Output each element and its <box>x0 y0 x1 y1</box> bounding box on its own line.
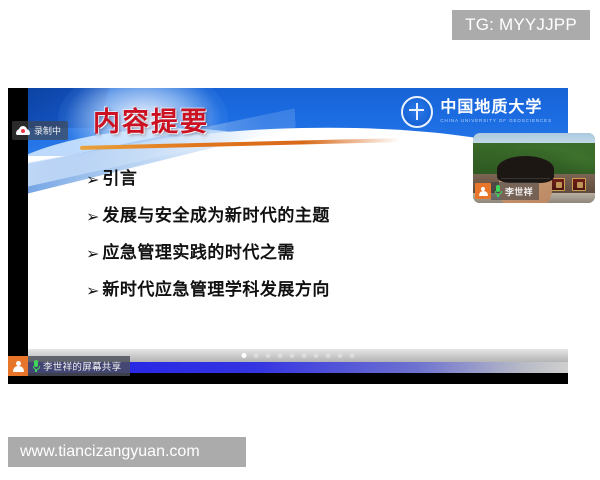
page-dot[interactable] <box>302 353 307 358</box>
page-dot[interactable] <box>242 353 247 358</box>
recording-badge: 录制中 <box>12 121 68 140</box>
page-dot[interactable] <box>314 353 319 358</box>
page-dot[interactable] <box>254 353 259 358</box>
arrow-bullet-icon: ➢ <box>86 173 99 189</box>
list-item: ➢ 应急管理实践的时代之需 <box>86 244 550 263</box>
person-avatar-icon <box>8 356 28 376</box>
university-name-block: 中国地质大学 CHINA UNIVERSITY OF GEOSCIENCES <box>440 100 552 124</box>
cloud-record-icon <box>16 126 30 135</box>
presentation-slide: 内容提要 中国地质大学 CHINA UNIVERSITY OF GEOSCIEN… <box>28 88 568 373</box>
university-name-en: CHINA UNIVERSITY OF GEOSCIENCES <box>440 119 552 124</box>
list-item-label: 应急管理实践的时代之需 <box>102 244 295 263</box>
presenter-name-plate: 李世祥的屏幕共享 <box>28 356 130 376</box>
participant-name-plate: 李世祥 <box>491 182 539 200</box>
arrow-bullet-icon: ➢ <box>86 210 99 226</box>
page-dot[interactable] <box>266 353 271 358</box>
recording-label: 录制中 <box>34 124 61 137</box>
page-dot[interactable] <box>326 353 331 358</box>
arrow-bullet-icon: ➢ <box>86 247 99 263</box>
tg-watermark-badge: TG: MYYJJPP <box>452 10 590 40</box>
page-dot[interactable] <box>278 353 283 358</box>
slide-pagination-dots[interactable] <box>242 353 355 358</box>
microphone-icon <box>32 360 40 372</box>
participant-name-chip: 李世祥 <box>475 182 539 200</box>
url-watermark: www.tiancizangyuan.com <box>8 437 246 467</box>
list-item: ➢ 新时代应急管理学科发展方向 <box>86 281 550 300</box>
list-item-label: 发展与安全成为新时代的主题 <box>102 207 330 226</box>
screen-share-label: 李世祥的屏幕共享 <box>43 359 121 373</box>
university-logo: 中国地质大学 CHINA UNIVERSITY OF GEOSCIENCES <box>401 96 552 128</box>
list-item-label: 引言 <box>102 170 137 189</box>
microphone-icon <box>494 185 502 197</box>
list-item: ➢ 发展与安全成为新时代的主题 <box>86 207 550 226</box>
participant-name: 李世祥 <box>505 185 533 198</box>
slide-title: 内容提要 <box>93 100 209 139</box>
person-avatar-icon <box>475 183 491 199</box>
university-name-cn: 中国地质大学 <box>440 100 552 116</box>
university-emblem-icon <box>401 96 433 128</box>
screen-share-presenter-chip: 李世祥的屏幕共享 <box>8 356 130 376</box>
list-item-label: 新时代应急管理学科发展方向 <box>102 281 330 300</box>
participant-video-thumbnail[interactable]: 李世祥 <box>473 133 595 203</box>
page-dot[interactable] <box>338 353 343 358</box>
arrow-bullet-icon: ➢ <box>86 284 99 300</box>
page-dot[interactable] <box>350 353 355 358</box>
page-dot[interactable] <box>290 353 295 358</box>
